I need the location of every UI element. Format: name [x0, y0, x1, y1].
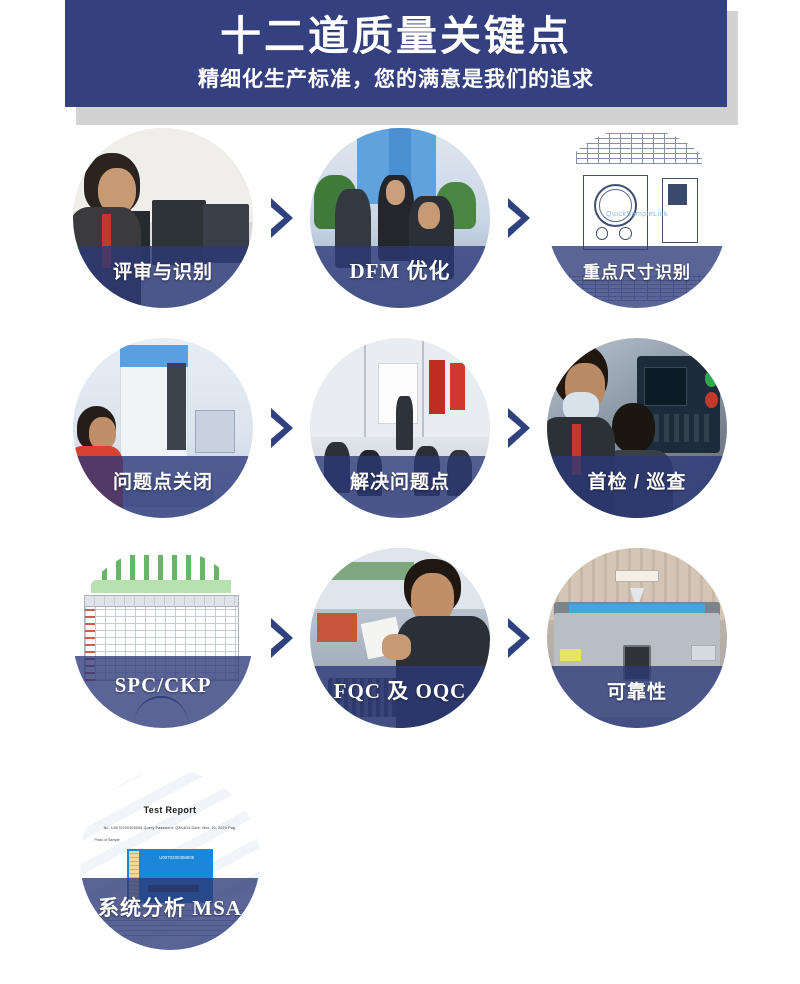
step-label-band-6: 首检 / 巡查 — [547, 456, 727, 518]
step-label-band-8: FQC 及 OQC — [310, 666, 490, 728]
step-label-band-7: SPC/CKP — [73, 656, 253, 728]
step-card-2[interactable]: DFM 优化 — [310, 128, 490, 308]
step-circle-3: QuickSampleLink 重点尺寸识别 — [547, 128, 727, 308]
steps-row-2: 问题点关闭 — [0, 338, 800, 548]
steps-row-3: SPC/CKP — [0, 548, 800, 758]
step-circle-1: 评审与识别 — [73, 128, 253, 308]
step-circle-6: 首检 / 巡查 — [547, 338, 727, 518]
step-card-1[interactable]: 评审与识别 — [73, 128, 253, 308]
chevron-right-icon — [502, 615, 536, 661]
step-card-8[interactable]: FQC 及 OQC — [310, 548, 490, 728]
step-card-10[interactable]: Test Report No. U0070200308005 Query Pas… — [80, 770, 260, 950]
header-banner: 十二道质量关键点 精细化生产标准，您的满意是我们的追求 — [65, 0, 727, 107]
step-label-band-4: 问题点关闭 — [73, 456, 253, 518]
step-circle-8: FQC 及 OQC — [310, 548, 490, 728]
step-card-5[interactable]: 解决问题点 — [310, 338, 490, 518]
step-card-3[interactable]: QuickSampleLink 重点尺寸识别 — [547, 128, 727, 308]
step-label-10: 系统分析 MSA — [98, 892, 242, 922]
step-card-4[interactable]: 问题点关闭 — [73, 338, 253, 518]
report-subtitle: Photo of Sample — [94, 838, 148, 843]
drawing-watermark: QuickSampleLink — [601, 207, 673, 221]
step-label-8: FQC 及 OQC — [334, 675, 467, 705]
steps-grid: 评审与识别 — [0, 128, 800, 758]
step-label-band-9: 可靠性 — [547, 666, 727, 728]
step-card-7[interactable]: SPC/CKP — [73, 548, 253, 728]
report-meta: No. U0070200308005 Query Password: Q8K4D… — [94, 824, 245, 831]
arrow-gap-5 — [253, 548, 310, 728]
step-label-band-3: 重点尺寸识别 — [547, 246, 727, 308]
arrow-gap-3 — [253, 338, 310, 518]
step-label-5: 解决问题点 — [350, 467, 450, 494]
arrow-gap-4 — [490, 338, 547, 518]
arrow-gap-6 — [490, 548, 547, 728]
page-subtitle: 精细化生产标准，您的满意是我们的追求 — [198, 63, 594, 93]
step-circle-2: DFM 优化 — [310, 128, 490, 308]
report-sample-id: U0070200308005 — [159, 853, 213, 862]
step-label-band-1: 评审与识别 — [73, 246, 253, 308]
chevron-right-icon — [502, 405, 536, 451]
step-label-4: 问题点关闭 — [113, 467, 213, 494]
page-title: 十二道质量关键点 — [220, 14, 572, 58]
step-circle-10: Test Report No. U0070200308005 Query Pas… — [80, 770, 260, 950]
chevron-right-icon — [265, 195, 299, 241]
arrow-gap-2 — [490, 128, 547, 308]
step-card-9[interactable]: 可靠性 — [547, 548, 727, 728]
step-circle-4: 问题点关闭 — [73, 338, 253, 518]
step-circle-7: SPC/CKP — [73, 548, 253, 728]
infographic-page: 十二道质量关键点 精细化生产标准，您的满意是我们的追求 评审与识别 — [0, 0, 800, 984]
step-circle-9: 可靠性 — [547, 548, 727, 728]
step-label-band-5: 解决问题点 — [310, 456, 490, 518]
step-label-1: 评审与识别 — [113, 257, 213, 284]
step-label-band-2: DFM 优化 — [310, 246, 490, 308]
step-label-3: 重点尺寸识别 — [583, 258, 691, 283]
arrow-gap-1 — [253, 128, 310, 308]
step-label-6: 首检 / 巡查 — [588, 467, 687, 494]
bottom-section: Test Report No. U0070200308005 Query Pas… — [0, 758, 800, 984]
chevron-right-icon — [265, 405, 299, 451]
chevron-right-icon — [265, 615, 299, 661]
step-label-band-10: 系统分析 MSA — [80, 878, 260, 950]
header: 十二道质量关键点 精细化生产标准，您的满意是我们的追求 — [65, 0, 727, 125]
chevron-right-icon — [502, 195, 536, 241]
step-label-2: DFM 优化 — [349, 255, 450, 285]
step-label-9: 可靠性 — [607, 677, 667, 704]
step-card-6[interactable]: 首检 / 巡查 — [547, 338, 727, 518]
report-title: Test Report — [123, 802, 217, 818]
step-label-7: SPC/CKP — [115, 673, 212, 698]
steps-row-1: 评审与识别 — [0, 128, 800, 338]
step-circle-5: 解决问题点 — [310, 338, 490, 518]
